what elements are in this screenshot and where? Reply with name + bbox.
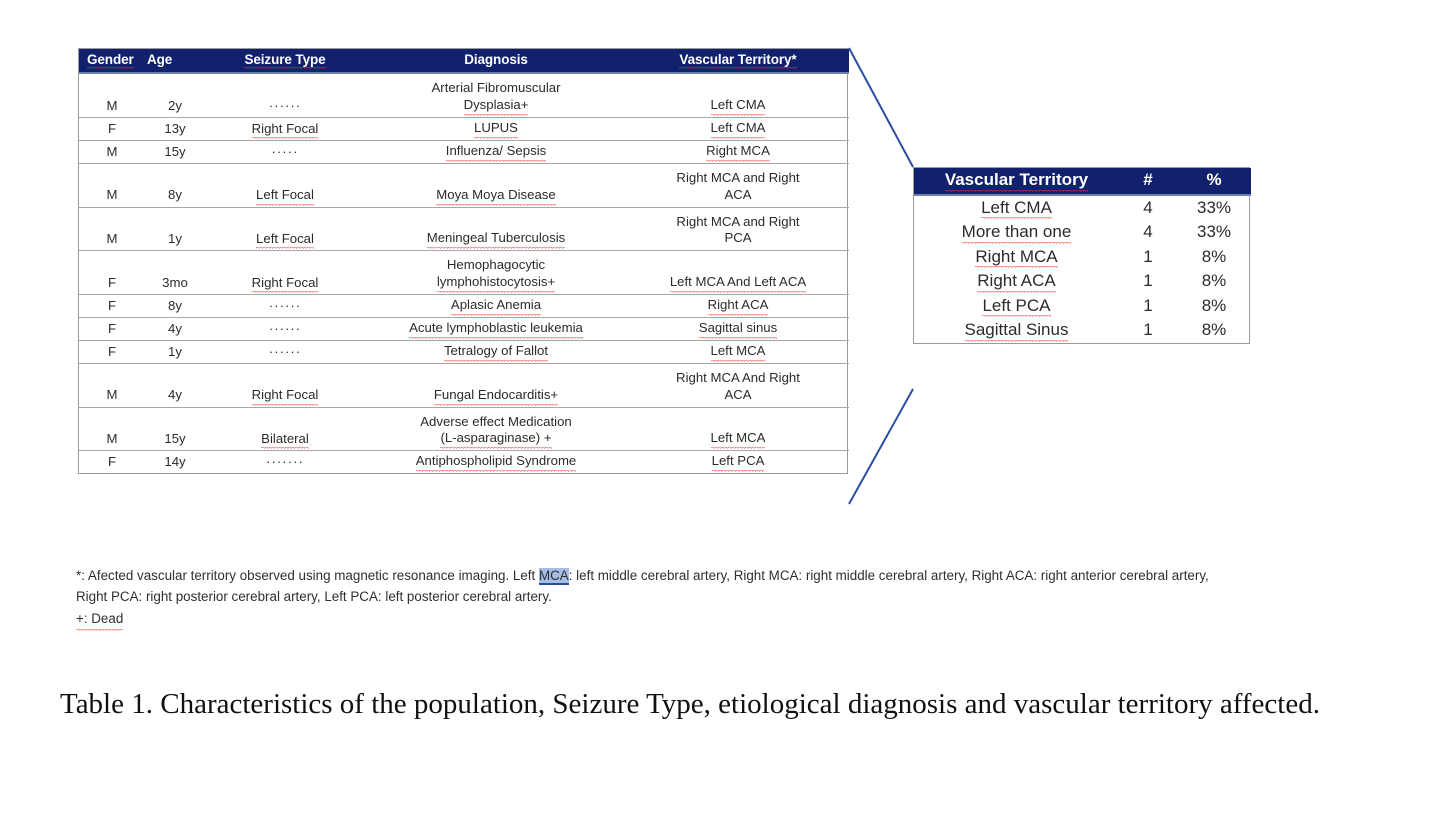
cell-vascular-territory-line1: Left MCA (629, 430, 847, 447)
summary-cell-territory: Left CMA (914, 195, 1119, 221)
connector-line-bottom (849, 389, 913, 504)
cell-age: 15y (145, 140, 205, 163)
cell-gender: M (79, 407, 145, 451)
cell-vascular-territory: Right MCA And RightACA (627, 363, 849, 407)
footnote-dead: +: Dead (76, 609, 1211, 630)
footnote-asterisk: *: Afected vascular territory observed u… (76, 566, 1211, 608)
cell-diagnosis-value: Tetralogy of Fallot (367, 343, 625, 360)
cell-vascular-territory: Left CMA (627, 117, 849, 140)
cell-gender: F (79, 340, 145, 363)
summary-table-row: Left CMA433% (914, 195, 1251, 221)
cell-vascular-territory: Right MCA (627, 140, 849, 163)
cell-vascular-territory-line1: Left CMA (629, 120, 847, 137)
table-row: F8y······Aplasic AnemiaRight ACA (79, 295, 849, 318)
summary-column-header-count: # (1119, 168, 1177, 195)
cell-seizure-type: Right Focal (205, 363, 365, 407)
cell-diagnosis-value: Moya Moya Disease (367, 187, 625, 204)
cell-vascular-territory: Right MCA and RightPCA (627, 207, 849, 251)
cell-gender: M (79, 363, 145, 407)
summary-cell-percent: 33% (1177, 220, 1251, 245)
cell-vascular-territory-line1: Right ACA (629, 297, 847, 314)
table-row: F4y······Acute lymphoblastic leukemiaSag… (79, 317, 849, 340)
cell-diagnosis-value: Acute lymphoblastic leukemia (367, 320, 625, 337)
cell-vascular-territory: Left MCA (627, 340, 849, 363)
cell-vascular-territory-line2: ACA (629, 387, 847, 404)
cell-age: 13y (145, 117, 205, 140)
summary-cell-count: 1 (1119, 294, 1177, 319)
cell-age: 3mo (145, 251, 205, 295)
summary-cell-percent: 8% (1177, 269, 1251, 294)
cell-diagnosis: Moya Moya Disease (365, 163, 627, 207)
cell-gender: M (79, 73, 145, 117)
summary-table-header: Vascular Territory # % (914, 168, 1251, 195)
cell-gender: F (79, 251, 145, 295)
cell-age: 2y (145, 73, 205, 117)
summary-table-row: Right MCA18% (914, 245, 1251, 270)
cell-diagnosis: LUPUS (365, 117, 627, 140)
cell-vascular-territory-line1: Right MCA (629, 143, 847, 160)
cell-seizure-type: Left Focal (205, 207, 365, 251)
table-row: F1y······Tetralogy of FallotLeft MCA (79, 340, 849, 363)
cell-diagnosis: Adverse effect Medication(L-asparaginase… (365, 407, 627, 451)
cell-diagnosis: Influenza/ Sepsis (365, 140, 627, 163)
table-row: M15y·····Influenza/ SepsisRight MCA (79, 140, 849, 163)
table-row: F13yRight FocalLUPUSLeft CMA (79, 117, 849, 140)
cell-vascular-territory-line1: Sagittal sinus (629, 320, 847, 337)
footnote-highlighted-term: MCA (539, 568, 569, 585)
cell-diagnosis-line2: Dysplasia+ (367, 97, 625, 114)
table-row: M15yBilateralAdverse effect Medication(L… (79, 407, 849, 451)
cell-vascular-territory-line1: Right MCA and Right (629, 214, 847, 231)
summary-table-body: Left CMA433%More than one433%Right MCA18… (914, 195, 1251, 343)
column-header-seizure-type: Seizure Type (205, 49, 365, 73)
main-table: Gender Age Seizure Type Diagnosis Vascul… (79, 49, 849, 473)
cell-age: 15y (145, 407, 205, 451)
cell-diagnosis: Tetralogy of Fallot (365, 340, 627, 363)
summary-cell-count: 4 (1119, 195, 1177, 221)
cell-diagnosis: Arterial FibromuscularDysplasia+ (365, 73, 627, 117)
cell-diagnosis-value: LUPUS (367, 120, 625, 137)
cell-diagnosis: Aplasic Anemia (365, 295, 627, 318)
cell-seizure-type: Bilateral (205, 407, 365, 451)
summary-table-row: Sagittal Sinus18% (914, 318, 1251, 343)
cell-vascular-territory: Left MCA And Left ACA (627, 251, 849, 295)
column-header-gender: Gender (79, 49, 145, 73)
cell-diagnosis-line1: Adverse effect Medication (367, 414, 625, 431)
cell-diagnosis-line2: (L-asparaginase) + (367, 430, 625, 447)
cell-diagnosis: Meningeal Tuberculosis (365, 207, 627, 251)
cell-diagnosis: Acute lymphoblastic leukemia (365, 317, 627, 340)
cell-age: 1y (145, 340, 205, 363)
summary-table-row: More than one433% (914, 220, 1251, 245)
summary-table: Vascular Territory # % Left CMA433%More … (914, 168, 1251, 343)
summary-cell-territory: Sagittal Sinus (914, 318, 1119, 343)
cell-diagnosis: Hemophagocyticlymphohistocytosis+ (365, 251, 627, 295)
summary-cell-count: 1 (1119, 318, 1177, 343)
table-row: M1yLeft FocalMeningeal TuberculosisRight… (79, 207, 849, 251)
cell-vascular-territory-line1: Left CMA (629, 97, 847, 114)
cell-seizure-type: ······· (205, 451, 365, 473)
cell-diagnosis: Antiphospholipid Syndrome (365, 451, 627, 473)
footnote-asterisk-text-part1: *: Afected vascular territory observed u… (76, 568, 539, 583)
summary-cell-territory: More than one (914, 220, 1119, 245)
vascular-territory-summary-table: Vascular Territory # % Left CMA433%More … (913, 167, 1250, 344)
summary-column-header-percent: % (1177, 168, 1251, 195)
table-row: F3moRight FocalHemophagocyticlymphohisto… (79, 251, 849, 295)
summary-cell-count: 1 (1119, 269, 1177, 294)
cell-seizure-type: ······ (205, 317, 365, 340)
cell-seizure-type: ······ (205, 340, 365, 363)
cell-age: 8y (145, 295, 205, 318)
table-caption: Table 1. Characteristics of the populati… (60, 682, 1345, 726)
summary-cell-percent: 8% (1177, 294, 1251, 319)
cell-diagnosis-value: Meningeal Tuberculosis (367, 230, 625, 247)
summary-column-header-territory: Vascular Territory (914, 168, 1119, 195)
cell-age: 4y (145, 363, 205, 407)
table-row: M8yLeft FocalMoya Moya DiseaseRight MCA … (79, 163, 849, 207)
cell-gender: M (79, 140, 145, 163)
cell-diagnosis: Fungal Endocarditis+ (365, 363, 627, 407)
cell-age: 1y (145, 207, 205, 251)
patient-characteristics-table: Gender Age Seizure Type Diagnosis Vascul… (78, 48, 848, 474)
summary-table-row: Left PCA18% (914, 294, 1251, 319)
cell-seizure-type: ······ (205, 295, 365, 318)
summary-cell-territory: Left PCA (914, 294, 1119, 319)
summary-cell-percent: 33% (1177, 195, 1251, 221)
summary-cell-territory: Right MCA (914, 245, 1119, 270)
cell-diagnosis-line2: lymphohistocytosis+ (367, 274, 625, 291)
summary-table-header-row: Vascular Territory # % (914, 168, 1251, 195)
cell-vascular-territory: Right ACA (627, 295, 849, 318)
cell-seizure-type: ······ (205, 73, 365, 117)
cell-vascular-territory-line1: Left MCA (629, 343, 847, 360)
column-header-age: Age (145, 49, 205, 73)
cell-age: 14y (145, 451, 205, 473)
cell-vascular-territory: Left MCA (627, 407, 849, 451)
cell-diagnosis-line1: Hemophagocytic (367, 257, 625, 274)
cell-gender: M (79, 163, 145, 207)
cell-age: 4y (145, 317, 205, 340)
cell-vascular-territory: Left CMA (627, 73, 849, 117)
cell-gender: M (79, 207, 145, 251)
summary-cell-count: 4 (1119, 220, 1177, 245)
cell-seizure-type: Right Focal (205, 117, 365, 140)
cell-vascular-territory-line1: Left MCA And Left ACA (629, 274, 847, 291)
cell-vascular-territory-line1: Left PCA (629, 453, 847, 470)
table-footnotes: *: Afected vascular territory observed u… (76, 566, 1211, 629)
main-table-header: Gender Age Seizure Type Diagnosis Vascul… (79, 49, 849, 73)
cell-vascular-territory: Left PCA (627, 451, 849, 473)
cell-vascular-territory-line1: Right MCA And Right (629, 370, 847, 387)
cell-vascular-territory: Sagittal sinus (627, 317, 849, 340)
summary-table-row: Right ACA18% (914, 269, 1251, 294)
cell-diagnosis-value: Aplasic Anemia (367, 297, 625, 314)
cell-gender: F (79, 295, 145, 318)
column-header-vascular-territory: Vascular Territory* (627, 49, 849, 73)
cell-vascular-territory-line1: Right MCA and Right (629, 170, 847, 187)
table-row: M2y······Arterial FibromuscularDysplasia… (79, 73, 849, 117)
summary-cell-percent: 8% (1177, 245, 1251, 270)
summary-cell-count: 1 (1119, 245, 1177, 270)
summary-cell-territory: Right ACA (914, 269, 1119, 294)
main-table-header-row: Gender Age Seizure Type Diagnosis Vascul… (79, 49, 849, 73)
cell-diagnosis-value: Fungal Endocarditis+ (367, 387, 625, 404)
cell-diagnosis-value: Influenza/ Sepsis (367, 143, 625, 160)
cell-age: 8y (145, 163, 205, 207)
cell-diagnosis-line1: Arterial Fibromuscular (367, 80, 625, 97)
summary-cell-percent: 8% (1177, 318, 1251, 343)
table-row: M4yRight FocalFungal Endocarditis+Right … (79, 363, 849, 407)
cell-gender: F (79, 451, 145, 473)
connector-line-top (849, 48, 913, 167)
column-header-diagnosis: Diagnosis (365, 49, 627, 73)
cell-gender: F (79, 117, 145, 140)
cell-diagnosis-value: Antiphospholipid Syndrome (367, 453, 625, 470)
cell-gender: F (79, 317, 145, 340)
cell-seizure-type: ····· (205, 140, 365, 163)
cell-vascular-territory: Right MCA and RightACA (627, 163, 849, 207)
cell-seizure-type: Left Focal (205, 163, 365, 207)
table-row: F14y·······Antiphospholipid SyndromeLeft… (79, 451, 849, 473)
cell-seizure-type: Right Focal (205, 251, 365, 295)
cell-vascular-territory-line2: ACA (629, 187, 847, 204)
main-table-body: M2y······Arterial FibromuscularDysplasia… (79, 73, 849, 473)
cell-vascular-territory-line2: PCA (629, 230, 847, 247)
